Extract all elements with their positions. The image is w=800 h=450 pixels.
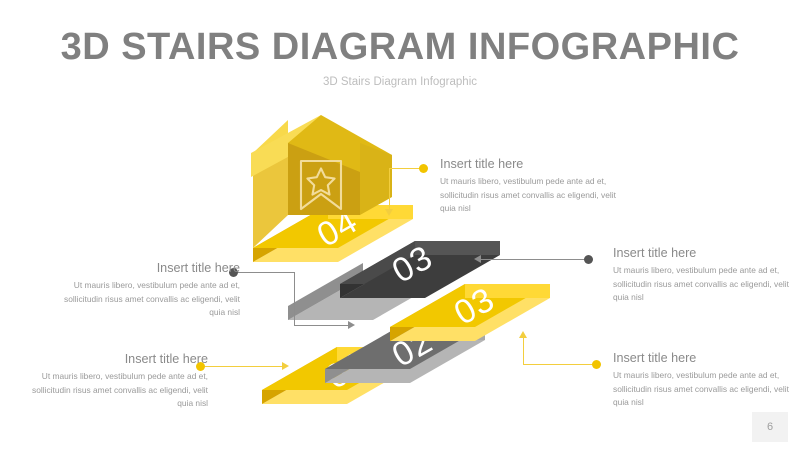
text-block-5-title: Insert title here [613, 351, 791, 365]
slide-canvas: 3D STAIRS DIAGRAM INFOGRAPHIC 3D Stairs … [0, 0, 800, 450]
connector-5-arrowhead [519, 331, 527, 338]
connector-1-arrowhead [385, 209, 393, 216]
connector-4-arrowhead [282, 362, 289, 370]
bullet-dot-1[interactable] [419, 164, 428, 173]
text-block-4[interactable]: Insert title here Ut mauris libero, vest… [30, 352, 208, 411]
text-block-1-body: Ut mauris libero, vestibulum pede ante a… [440, 175, 618, 216]
text-block-3-title: Insert title here [62, 261, 240, 275]
text-block-2[interactable]: Insert title here Ut mauris libero, vest… [613, 246, 791, 305]
text-block-5[interactable]: Insert title here Ut mauris libero, vest… [613, 351, 791, 410]
text-block-5-body: Ut mauris libero, vestibulum pede ante a… [613, 369, 791, 410]
connector-1-vertical [389, 168, 390, 210]
text-block-1-title: Insert title here [440, 157, 618, 171]
text-block-2-body: Ut mauris libero, vestibulum pede ante a… [613, 264, 791, 305]
connector-3-vertical [294, 272, 295, 325]
text-block-3[interactable]: Insert title here Ut mauris libero, vest… [62, 261, 240, 320]
bullet-dot-5[interactable] [592, 360, 601, 369]
connector-2-arrowhead [474, 255, 481, 263]
connector-5-horizontal [523, 364, 594, 365]
text-block-4-title: Insert title here [30, 352, 208, 366]
connector-1-horizontal [389, 168, 421, 169]
text-block-4-body: Ut mauris libero, vestibulum pede ante a… [30, 370, 208, 411]
connector-3-horizontal-top [238, 272, 294, 273]
connector-2-horizontal [481, 259, 586, 260]
connector-5-vertical [523, 337, 524, 365]
connector-3-horizontal-bottom [294, 325, 349, 326]
connector-4-horizontal [205, 366, 283, 367]
text-block-1[interactable]: Insert title here Ut mauris libero, vest… [440, 157, 618, 216]
page-number: 6 [752, 412, 788, 442]
connector-3-arrowhead [348, 321, 355, 329]
text-block-3-body: Ut mauris libero, vestibulum pede ante a… [62, 279, 240, 320]
bullet-dot-2[interactable] [584, 255, 593, 264]
text-block-2-title: Insert title here [613, 246, 791, 260]
